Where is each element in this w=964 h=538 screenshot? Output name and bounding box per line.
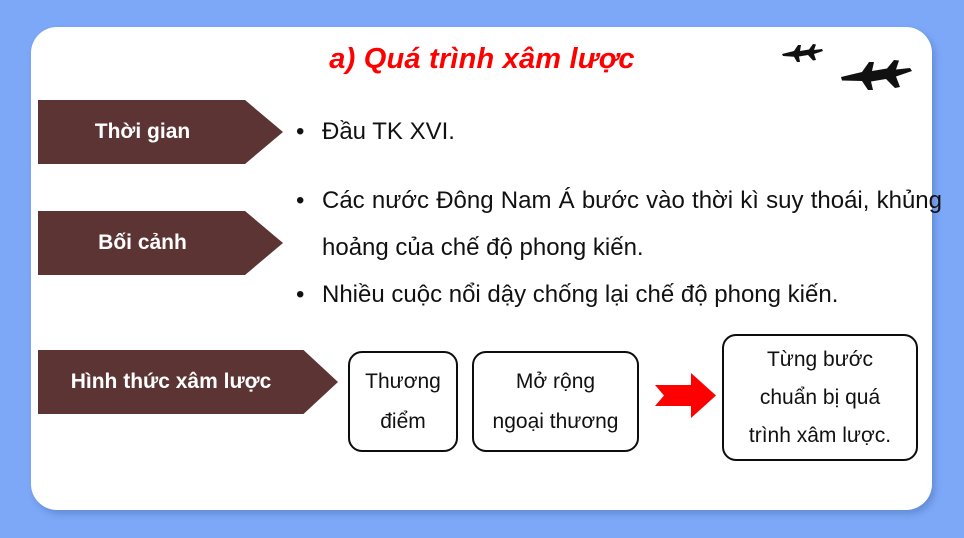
flow-box-line: Mở rộng [516, 362, 595, 402]
flow-box-line: điểm [380, 402, 426, 442]
bullet-marker-icon: • [296, 108, 322, 155]
flow-box-line: Từng bước [767, 341, 873, 379]
flow-box-line: ngoại thương [493, 402, 619, 442]
right-arrow-icon [655, 372, 717, 419]
slide-root: a) Quá trình xâm lược Thời gian Bối cảnh… [0, 0, 964, 538]
flow-box-line: Thương [365, 362, 441, 402]
banner-hinh-thuc-xam-luoc: Hình thức xâm lược [38, 350, 338, 414]
bullet-marker-icon: • [296, 271, 322, 318]
airplane-silhouette-icon [838, 57, 914, 98]
banner-label: Bối cảnh [98, 231, 187, 255]
bullet-text: Đầu TK XVI. [322, 108, 716, 155]
airplane-silhouette-icon [780, 42, 824, 69]
flow-box-thuong-diem: Thương điểm [348, 351, 458, 452]
bullet-text: Các nước Đông Nam Á bước vào thời kì suy… [322, 177, 942, 271]
bullet-item: • Nhiều cuộc nổi dậy chống lại chế độ ph… [296, 271, 942, 318]
bullet-item: • Các nước Đông Nam Á bước vào thời kì s… [296, 177, 942, 271]
banner-thoi-gian: Thời gian [38, 100, 283, 164]
flow-box-line: trình xâm lược. [749, 417, 891, 455]
flow-box-line: chuẩn bị quá [760, 379, 880, 417]
banner-boi-canh: Bối cảnh [38, 211, 283, 275]
bullet-item: • Đầu TK XVI. [296, 108, 716, 155]
bullet-marker-icon: • [296, 177, 322, 224]
banner-label: Thời gian [95, 120, 190, 144]
flow-box-ket-qua: Từng bước chuẩn bị quá trình xâm lược. [722, 334, 918, 461]
flow-box-mo-rong-ngoai-thuong: Mở rộng ngoại thương [472, 351, 639, 452]
bullet-text: Nhiều cuộc nổi dậy chống lại chế độ phon… [322, 271, 942, 318]
banner-label: Hình thức xâm lược [71, 370, 272, 394]
